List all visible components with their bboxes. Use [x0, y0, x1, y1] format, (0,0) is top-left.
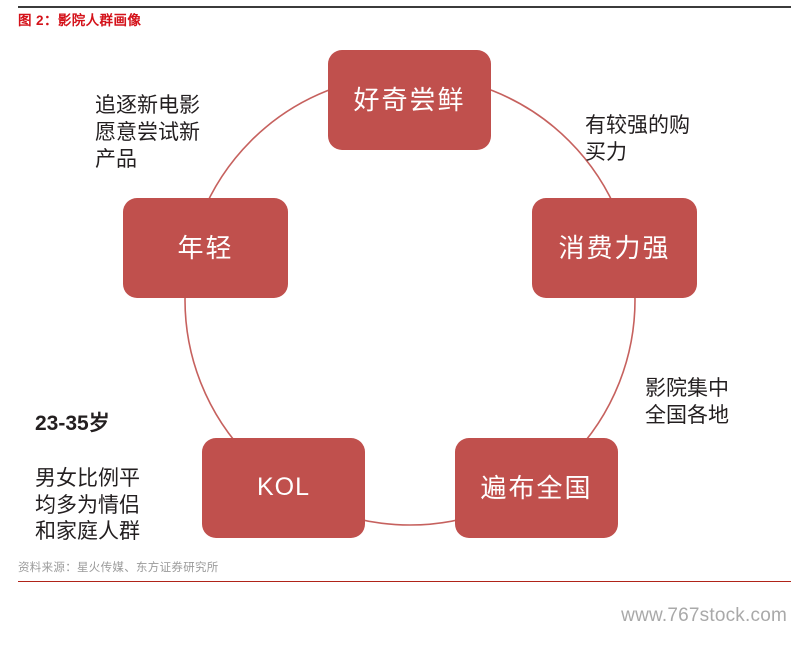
node-nationwide-label: 遍布全国: [480, 474, 592, 503]
annotation-bottom-left-body: 男女比例平 均多为情侣 和家庭人群: [35, 466, 200, 547]
annotation-top-left-body: 追逐新电影 愿意尝试新 产品: [95, 93, 265, 174]
page-title: 图 2：影院人群画像: [18, 13, 791, 29]
annotation-bottom-left-headline: 23-35岁: [35, 411, 200, 438]
annotation-bottom-right-body: 影院集中 全国各地: [645, 376, 805, 430]
annotation-top-right-body: 有较强的购 买力: [585, 113, 750, 167]
watermark: www.767stock.com: [621, 605, 787, 627]
node-nationwide[interactable]: 遍布全国: [455, 438, 618, 538]
node-kol-label: KOL: [257, 474, 310, 502]
source-block: 资料来源：星火传媒、东方证券研究所: [18, 562, 791, 582]
annotation-bottom-right: 影院集中 全国各地: [645, 349, 805, 457]
node-kol[interactable]: KOL: [202, 438, 365, 538]
annotation-bottom-left: 23-35岁 男女比例平 均多为情侣 和家庭人群: [35, 384, 200, 573]
figure-header: 图 2：影院人群画像: [18, 6, 791, 29]
annotation-top-right: 有较强的购 买力: [585, 86, 750, 194]
node-curious-label: 好奇尝鲜: [353, 86, 465, 115]
node-young-label: 年轻: [177, 234, 233, 263]
node-spending-power-label: 消费力强: [558, 234, 670, 263]
cycle-diagram: 好奇尝鲜 消费力强 遍布全国 KOL 年轻 追逐新电影 愿意尝试新 产品 有较强…: [0, 34, 809, 554]
annotation-top-left: 追逐新电影 愿意尝试新 产品: [95, 66, 265, 200]
source-text: 资料来源：星火传媒、东方证券研究所: [18, 562, 791, 576]
node-spending-power[interactable]: 消费力强: [532, 198, 697, 298]
node-curious[interactable]: 好奇尝鲜: [328, 50, 491, 150]
node-young[interactable]: 年轻: [123, 198, 288, 298]
